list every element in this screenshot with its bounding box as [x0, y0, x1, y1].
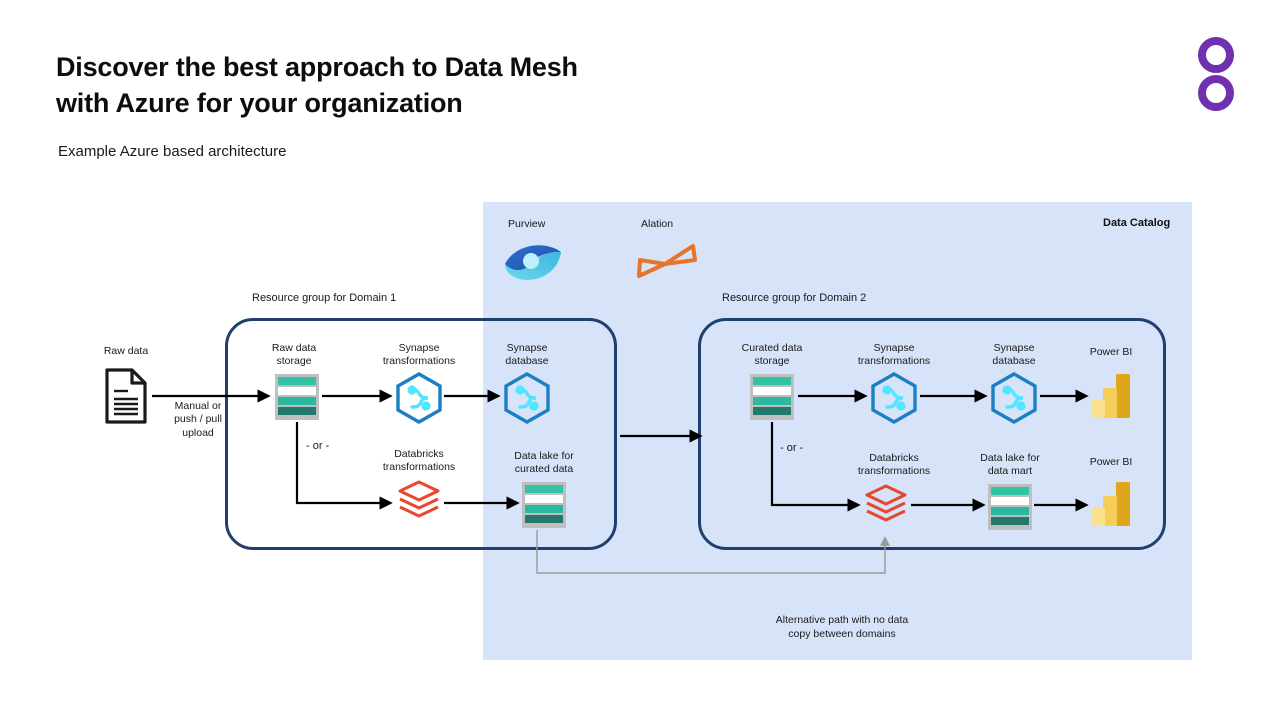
alternative-path-line	[537, 530, 885, 573]
connector-arrows	[0, 0, 1280, 720]
alternative-path-caption: Alternative path with no data copy betwe…	[722, 614, 962, 641]
slide-canvas: Discover the best approach to Data Mesh …	[0, 0, 1280, 720]
